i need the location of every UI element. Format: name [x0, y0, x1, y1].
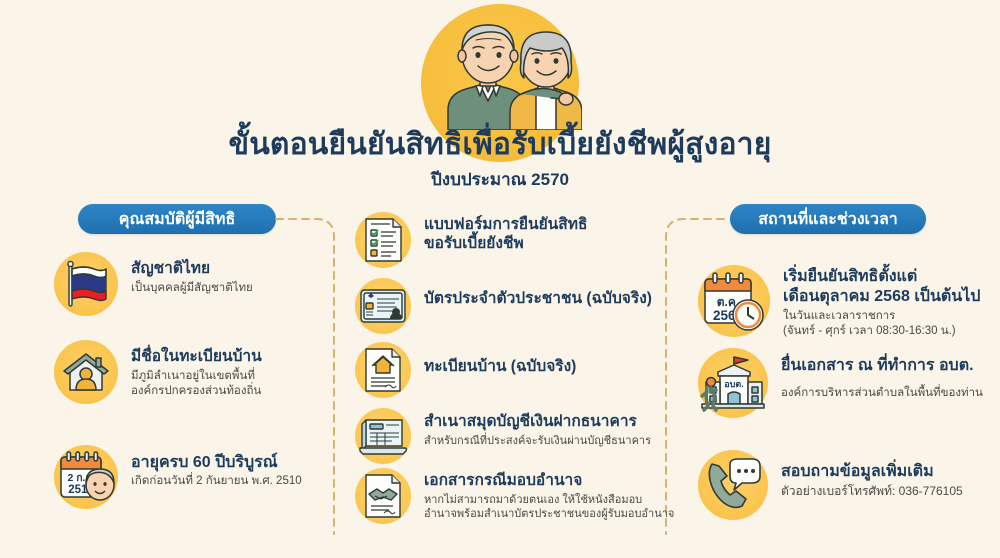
list-item-id-card: บัตรประจำตัวประชาชน (ฉบับจริง): [355, 278, 675, 334]
item-description: เป็นบุคคลผู้มีสัญชาติไทย: [131, 281, 253, 296]
id-card-icon: [355, 278, 411, 334]
elderly-couple-illustration: [418, 6, 582, 130]
item-description-line1: ตัวอย่างเบอร์โทรศัพท์: 036-776105: [781, 484, 963, 500]
calendar-elder-icon: 2 ก.ย. 2510: [54, 445, 118, 509]
hero-section: [0, 0, 1000, 130]
list-item-contact: สอบถามข้อมูลเพิ่มเติม ตัวอย่างเบอร์โทรศั…: [698, 450, 998, 520]
item-description-line2: อำนาจพร้อมสำเนาบัตรประชาชนของผู้รับมอบอำ…: [424, 507, 674, 521]
list-item-nationality: สัญชาติไทย เป็นบุคคลผู้มีสัญชาติไทย: [54, 252, 284, 316]
item-title-line1: ทะเบียนบ้าน (ฉบับจริง): [424, 358, 576, 377]
house-resident-icon: [54, 340, 118, 404]
infographic-canvas: ขั้นตอนยืนยันสิทธิเพื่อรับเบี้ยยังชีพผู้…: [0, 0, 1000, 558]
list-item-power-of-attorney: เอกสารกรณีมอบอำนาจ หากไม่สามารถมาด้วยตนเ…: [355, 468, 695, 524]
list-item-house-registration-doc: ทะเบียนบ้าน (ฉบับจริง): [355, 342, 675, 398]
item-title-line1: ยื่นเอกสาร ณ ที่ทำการ อบต.: [781, 356, 983, 376]
phone-chat-icon: [698, 450, 768, 520]
item-title-line2: ขอรับเบี้ยยังชีพ: [424, 235, 587, 254]
list-item-bankbook: สำเนาสมุดบัญชีเงินฝากธนาคาร สำหรับกรณีที…: [355, 408, 685, 464]
item-title: อายุครบ 60 ปีบริบูรณ์: [131, 453, 302, 472]
list-item-submit-office: อบต. ยื่นเอกสาร ณ ที่ทำการ อบต. องค์การบ…: [698, 348, 998, 418]
list-item-start-date: ต.ค. 2568 เริ่มยืนยันสิทธิตั้งแต่ เดือนต…: [698, 265, 998, 339]
item-title: สัญชาติไทย: [131, 260, 253, 279]
bankbook-icon: [355, 408, 411, 464]
title-block: ขั้นตอนยืนยันสิทธิเพื่อรับเบี้ยยังชีพผู้…: [0, 128, 1000, 193]
item-title: มีชื่อในทะเบียนบ้าน: [131, 348, 262, 367]
item-title-line1: เริ่มยืนยันสิทธิตั้งแต่: [783, 267, 980, 287]
item-description: สำหรับกรณีที่ประสงค์จะรับเงินผ่านบัญชีธน…: [424, 434, 651, 448]
calendar-clock-icon: ต.ค. 2568: [698, 265, 770, 337]
list-item-house-registration: มีชื่อในทะเบียนบ้าน มีภูมิลำเนาอยู่ในเขต…: [54, 340, 284, 404]
item-title-line1: บัตรประจำตัวประชาชน (ฉบับจริง): [424, 290, 652, 309]
list-item-age-60: 2 ก.ย. 2510 อายุครบ 60 ปีบริบูรณ์ เกิดก่…: [54, 445, 304, 509]
building-label-text: อบต.: [724, 379, 743, 389]
item-description-line1: ในวันและเวลาราชการ: [783, 309, 980, 324]
item-title-line1: สำเนาสมุดบัญชีเงินฝากธนาคาร: [424, 413, 651, 432]
item-title-line1: แบบฟอร์มการยืนยันสิทธิ: [424, 216, 587, 235]
item-description-line1: หากไม่สามารถมาด้วยตนเอง ให้ใช้หนังสือมอบ: [424, 493, 674, 507]
government-office-icon: อบต.: [698, 348, 768, 418]
left-column-heading: คุณสมบัติผู้มีสิทธิ: [78, 204, 276, 234]
page-subtitle: ปีงบประมาณ 2570: [0, 166, 1000, 193]
item-title-line1: สอบถามข้อมูลเพิ่มเติม: [781, 462, 963, 482]
house-document-icon: [355, 342, 411, 398]
item-description-line1: องค์การบริหารส่วนตำบลในพื้นที่ของท่าน: [781, 386, 983, 401]
item-description-line2: องค์กรปกครองส่วนท้องถิ่น: [131, 384, 262, 399]
thai-flag-icon: [54, 252, 118, 316]
item-description-line1: มีภูมิลำเนาอยู่ในเขตพื้นที่: [131, 369, 262, 384]
item-title-line2: เดือนตุลาคม 2568 เป็นต้นไป: [783, 287, 980, 307]
item-description-line2: (จันทร์ - ศุกร์ เวลา 08:30-16:30 น.): [783, 324, 980, 339]
item-description: เกิดก่อนวันที่ 2 กันยายน พ.ศ. 2510: [131, 474, 302, 489]
checklist-form-icon: [355, 212, 411, 268]
page-title: ขั้นตอนยืนยันสิทธิเพื่อรับเบี้ยยังชีพผู้…: [0, 128, 1000, 163]
handshake-document-icon: [355, 468, 411, 524]
list-item-claim-form: แบบฟอร์มการยืนยันสิทธิ ขอรับเบี้ยยังชีพ: [355, 212, 655, 268]
item-title-line1: เอกสารกรณีมอบอำนาจ: [424, 472, 674, 491]
right-column-heading: สถานที่และช่วงเวลา: [730, 204, 926, 234]
